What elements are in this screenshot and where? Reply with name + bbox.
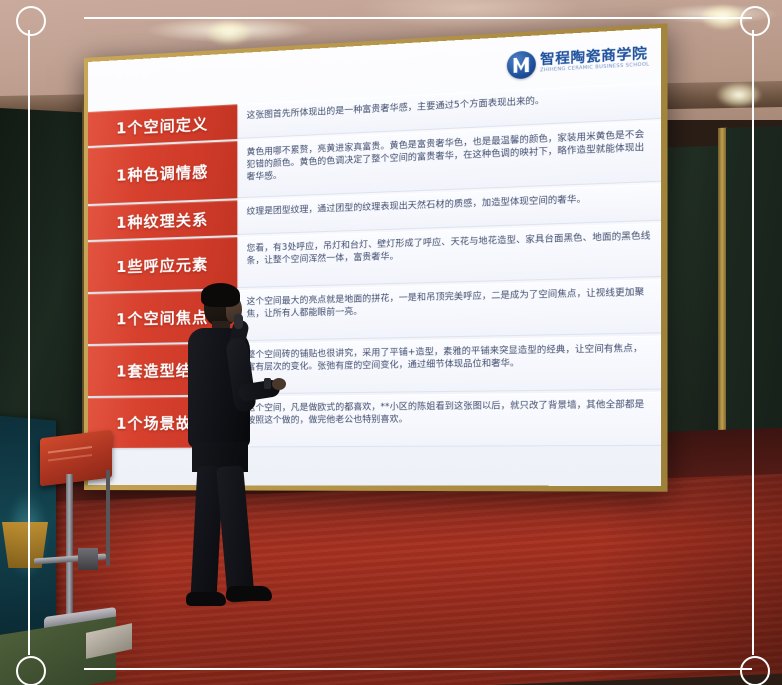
row-tag-banner: 1个空间定义 xyxy=(88,104,237,146)
brand-text: 智程陶瓷商学院 ZHIHENG CERAMIC BUSINESS SCHOOL xyxy=(540,47,649,74)
frame-line-top xyxy=(84,17,752,19)
brand-emblem-icon xyxy=(507,50,536,79)
frame-corner-top-left xyxy=(16,6,46,36)
wristwatch-icon xyxy=(264,378,271,389)
microphone-icon xyxy=(234,314,243,329)
row-tag-banner: 1种纹理关系 xyxy=(88,200,237,240)
bar-stool-seat xyxy=(40,430,112,487)
presenter-shoe-back xyxy=(186,592,226,606)
brand-logo: 智程陶瓷商学院 ZHIHENG CERAMIC BUSINESS SCHOOL xyxy=(507,44,650,80)
row-body: 这个空间，凡是做欧式的都喜欢，**小区的陈姐看到这张图以后，就只改了背景墙，其他… xyxy=(237,392,661,448)
row-tag-label: 1种色调情感 xyxy=(116,160,208,185)
row-body-text: 这个空间，凡是做欧式的都喜欢，**小区的陈姐看到这张图以后，就只改了背景墙，其他… xyxy=(247,397,652,426)
row-body-text: 您看，有3处呼应，吊灯和台灯、壁灯形成了呼应、天花与地花造型、家具台面黑色、地面… xyxy=(247,229,652,267)
bar-stool-pole xyxy=(66,474,73,619)
presenter-hair xyxy=(201,283,240,307)
row-body: 整个空间砖的铺贴也很讲究，采用了平铺+造型，素雅的平铺来突显造型的经典，让空间有… xyxy=(237,335,661,394)
ceiling-light-glow xyxy=(206,20,252,46)
ceiling-light-glow xyxy=(716,82,762,108)
row-body: 这个空间最大的亮点就是地面的拼花，一是和吊顶完美呼应，二是成为了空间焦点，让视线… xyxy=(237,279,661,341)
row-tag-label: 1种纹理关系 xyxy=(116,208,208,233)
row-tag-label: 1个空间定义 xyxy=(116,112,208,138)
presenter-shoe-front xyxy=(226,586,272,601)
row-tag-banner: 1种色调情感 xyxy=(88,141,237,204)
frame-corner-bottom-right xyxy=(740,656,770,685)
stage-scene: 智程陶瓷商学院 ZHIHENG CERAMIC BUSINESS SCHOOL … xyxy=(0,0,782,685)
bar-stool-bracket xyxy=(78,548,98,570)
frame-line-bottom xyxy=(84,668,752,670)
presenter xyxy=(168,286,276,622)
row-body-text: 这个空间最大的亮点就是地面的拼花，一是和吊顶完美呼应，二是成为了空间焦点，让视线… xyxy=(247,285,652,320)
presenter-leg-front xyxy=(216,465,255,603)
row-tag-label: 1些呼应元素 xyxy=(116,253,208,277)
frame-corner-top-right xyxy=(740,6,770,36)
presenter-hand xyxy=(272,378,286,390)
frame-corner-bottom-left xyxy=(16,656,46,685)
bar-stool-rod xyxy=(106,470,110,566)
frame-line-right xyxy=(752,30,754,655)
row-body-text: 这张图首先所体现出的是一种富贵奢华感，主要通过5个方面表现出来的。 xyxy=(247,88,652,121)
red-carpet xyxy=(0,472,782,685)
frame-line-left xyxy=(28,30,30,655)
carpet-shading xyxy=(0,472,782,685)
row-body-text: 整个空间砖的铺贴也很讲究，采用了平铺+造型，素雅的平铺来突显造型的经典，让空间有… xyxy=(247,341,652,373)
